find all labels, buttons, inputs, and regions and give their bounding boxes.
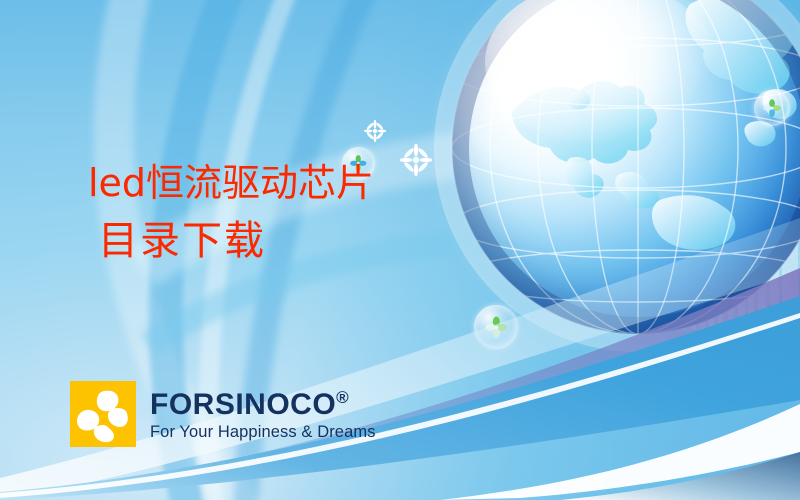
pinwheel-petals — [70, 381, 136, 447]
earth-globe-icon — [452, 0, 800, 334]
green-pinwheel-icon — [762, 98, 782, 118]
registered-trademark-icon: ® — [336, 388, 349, 407]
promo-banner: led恒流驱动芯片 目录下载 FORSINOCO® For Your Happi… — [0, 0, 800, 500]
flower-asterisk-icon — [400, 144, 432, 176]
brand-tagline: For Your Happiness & Dreams — [150, 423, 376, 442]
headline-line-2: 目录下载 — [98, 220, 374, 263]
brand-wordmark: FORSINOCO® For Your Happiness & Dreams — [150, 389, 376, 442]
bubble-pinwheel-icon — [474, 305, 518, 349]
headline-line-1: led恒流驱动芯片 — [88, 163, 374, 204]
bubble-pinwheel-icon — [754, 90, 790, 126]
flower-asterisk-icon — [364, 120, 386, 142]
brand-name: FORSINOCO® — [150, 389, 376, 420]
brand-name-text: FORSINOCO — [150, 388, 336, 421]
globe-detail — [452, 0, 800, 334]
page-title: led恒流驱动芯片 目录下载 — [88, 163, 374, 263]
four-petal-pinwheel-icon — [70, 381, 136, 447]
brand-logo[interactable]: FORSINOCO® For Your Happiness & Dreams — [70, 381, 376, 447]
green-pinwheel-icon — [484, 315, 509, 340]
